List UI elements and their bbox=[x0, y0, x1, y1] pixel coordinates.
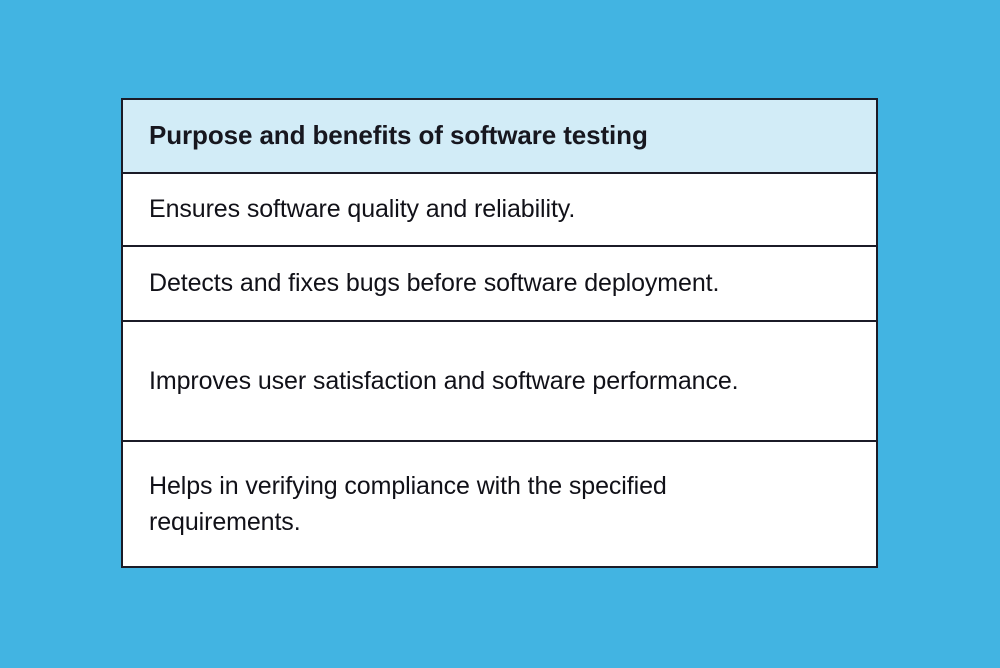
table-row-label: Detects and fixes bugs before software d… bbox=[149, 265, 850, 301]
table-row: Ensures software quality and reliability… bbox=[123, 174, 876, 247]
table-row: Improves user satisfaction and software … bbox=[123, 322, 876, 442]
page-canvas: Purpose and benefits of software testing… bbox=[0, 0, 1000, 668]
benefits-table: Purpose and benefits of software testing… bbox=[121, 98, 878, 568]
table-header-row: Purpose and benefits of software testing bbox=[123, 100, 876, 174]
table-row-label: Helps in verifying compliance with the s… bbox=[149, 468, 749, 541]
table-row-label: Improves user satisfaction and software … bbox=[149, 363, 749, 399]
table-row: Detects and fixes bugs before software d… bbox=[123, 247, 876, 322]
table-row: Helps in verifying compliance with the s… bbox=[123, 442, 876, 566]
table-row-label: Ensures software quality and reliability… bbox=[149, 191, 850, 227]
table-header-label: Purpose and benefits of software testing bbox=[149, 120, 850, 151]
